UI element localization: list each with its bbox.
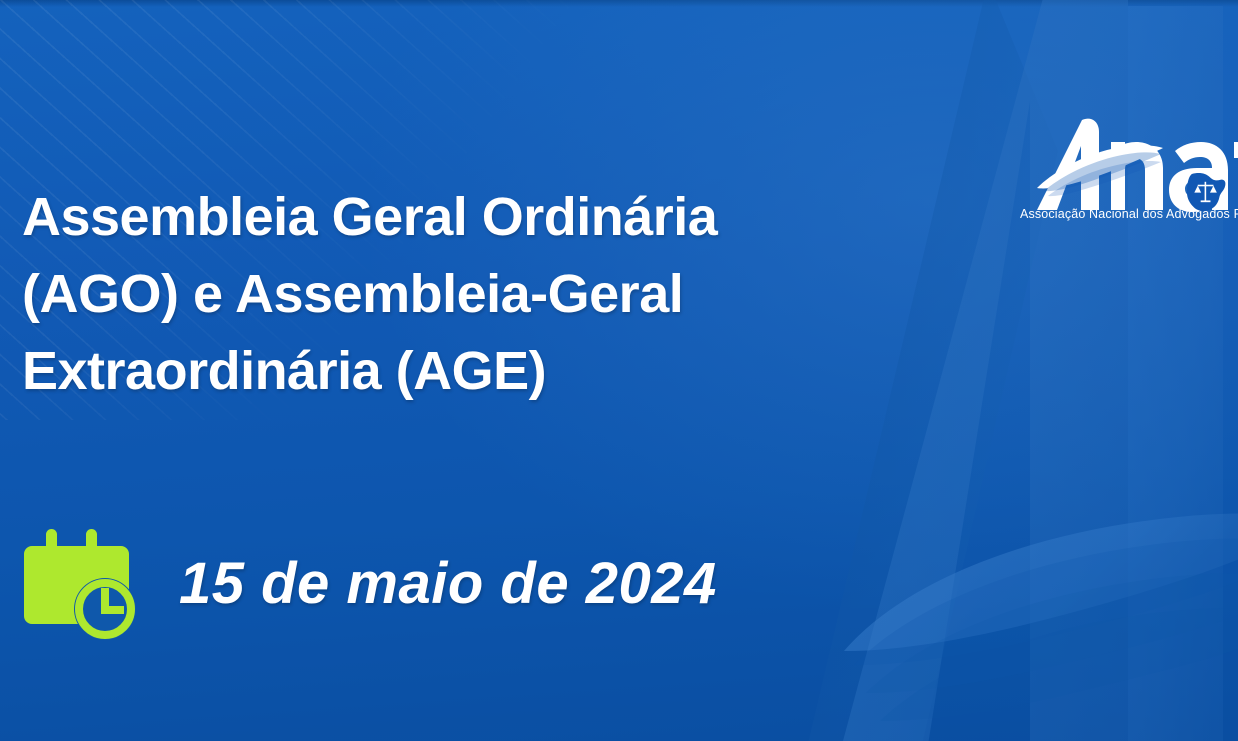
event-date-row: 15 de maio de 2024 (22, 524, 717, 642)
top-edge-band (0, 0, 1238, 7)
logo-tagline: Associação Nacional dos Advogados Públic… (1020, 207, 1238, 221)
page-title: Assembleia Geral Ordinária (AGO) e Assem… (22, 179, 942, 410)
calendar-clock-icon (22, 524, 140, 642)
event-banner: Assembleia Geral Ordinária (AGO) e Assem… (0, 0, 1238, 741)
event-date-text: 15 de maio de 2024 (179, 550, 717, 617)
